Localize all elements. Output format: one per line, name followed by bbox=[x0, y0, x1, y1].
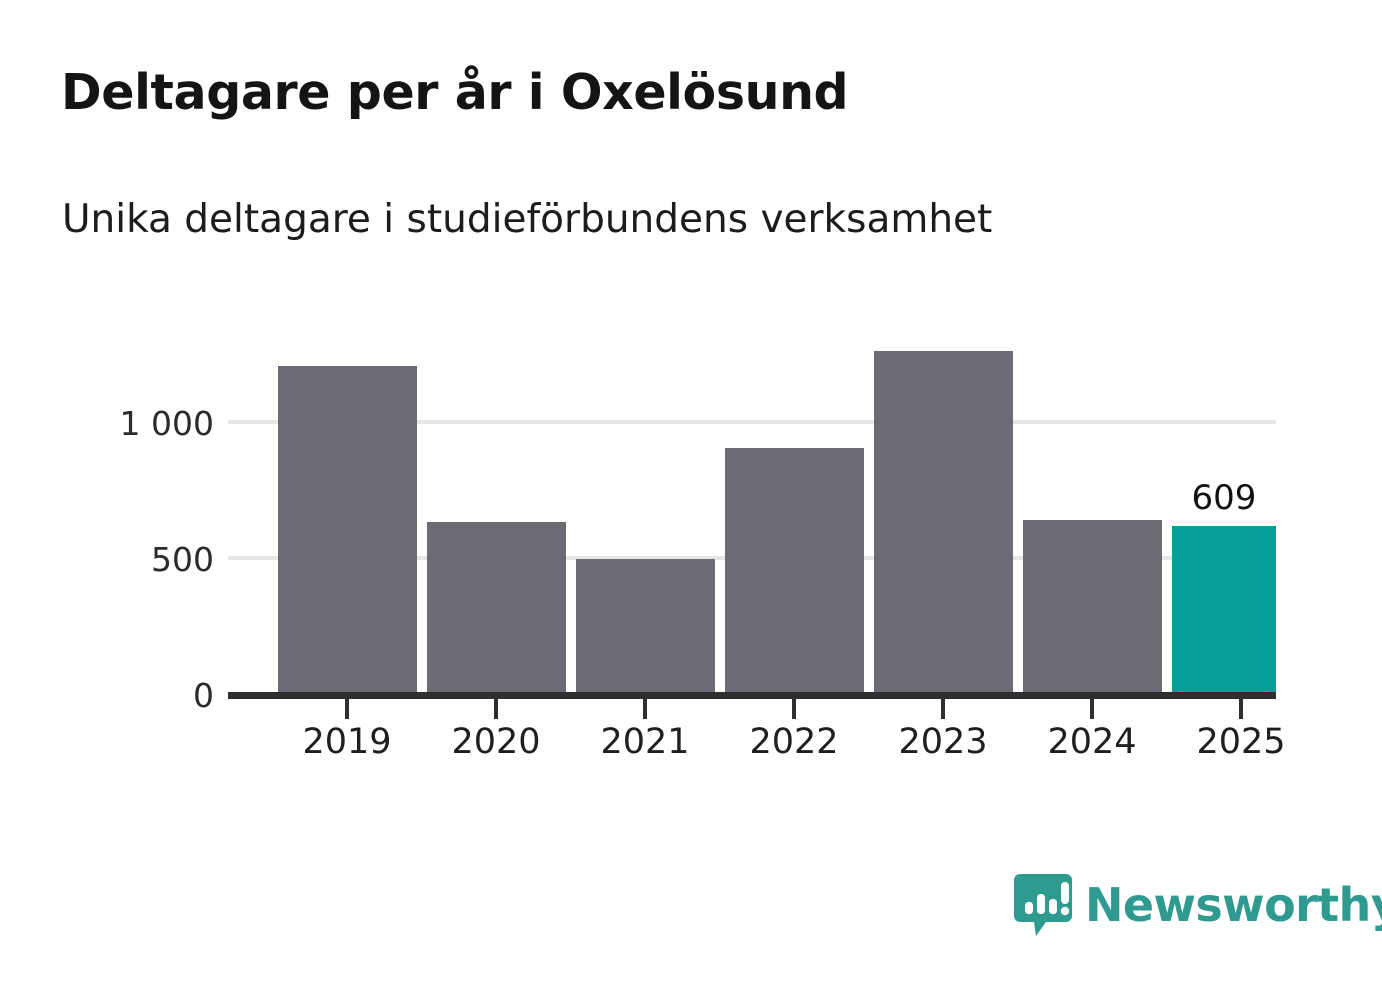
y-tick-label-0: 0 bbox=[193, 676, 214, 715]
x-tick-mark-2019 bbox=[345, 699, 349, 719]
y-tick-label-1000: 1 000 bbox=[120, 404, 214, 443]
x-tick-label-2024: 2024 bbox=[1012, 722, 1172, 762]
bar-2024[interactable] bbox=[1023, 520, 1162, 692]
bar-2020[interactable] bbox=[427, 522, 566, 692]
x-tick-label-2025: 2025 bbox=[1161, 722, 1321, 762]
x-axis-line bbox=[228, 692, 1276, 699]
bar-chart: 1 000 500 0 609 2019 2020 2021 2022 2023… bbox=[0, 0, 1382, 999]
bar-2022[interactable] bbox=[725, 448, 864, 692]
bar-2021[interactable] bbox=[576, 559, 715, 692]
x-tick-mark-2025 bbox=[1239, 699, 1243, 719]
x-tick-mark-2020 bbox=[494, 699, 498, 719]
x-tick-label-2022: 2022 bbox=[714, 722, 874, 762]
newsworthy-speech-bubble-chart-icon bbox=[1012, 872, 1074, 938]
bar-2019[interactable] bbox=[278, 366, 417, 692]
newsworthy-logo: Newsworthy bbox=[1012, 872, 1382, 938]
bar-2023[interactable] bbox=[874, 351, 1013, 692]
x-tick-mark-2021 bbox=[643, 699, 647, 719]
y-tick-label-500: 500 bbox=[151, 540, 214, 579]
x-tick-label-2021: 2021 bbox=[565, 722, 725, 762]
x-tick-mark-2024 bbox=[1090, 699, 1094, 719]
x-tick-label-2019: 2019 bbox=[267, 722, 427, 762]
x-tick-mark-2022 bbox=[792, 699, 796, 719]
bar-2025[interactable] bbox=[1172, 526, 1276, 692]
x-tick-mark-2023 bbox=[941, 699, 945, 719]
newsworthy-wordmark: Newsworthy bbox=[1085, 882, 1382, 928]
x-tick-label-2020: 2020 bbox=[416, 722, 576, 762]
x-tick-label-2023: 2023 bbox=[863, 722, 1023, 762]
bar-value-label-2025: 609 bbox=[1172, 478, 1276, 518]
